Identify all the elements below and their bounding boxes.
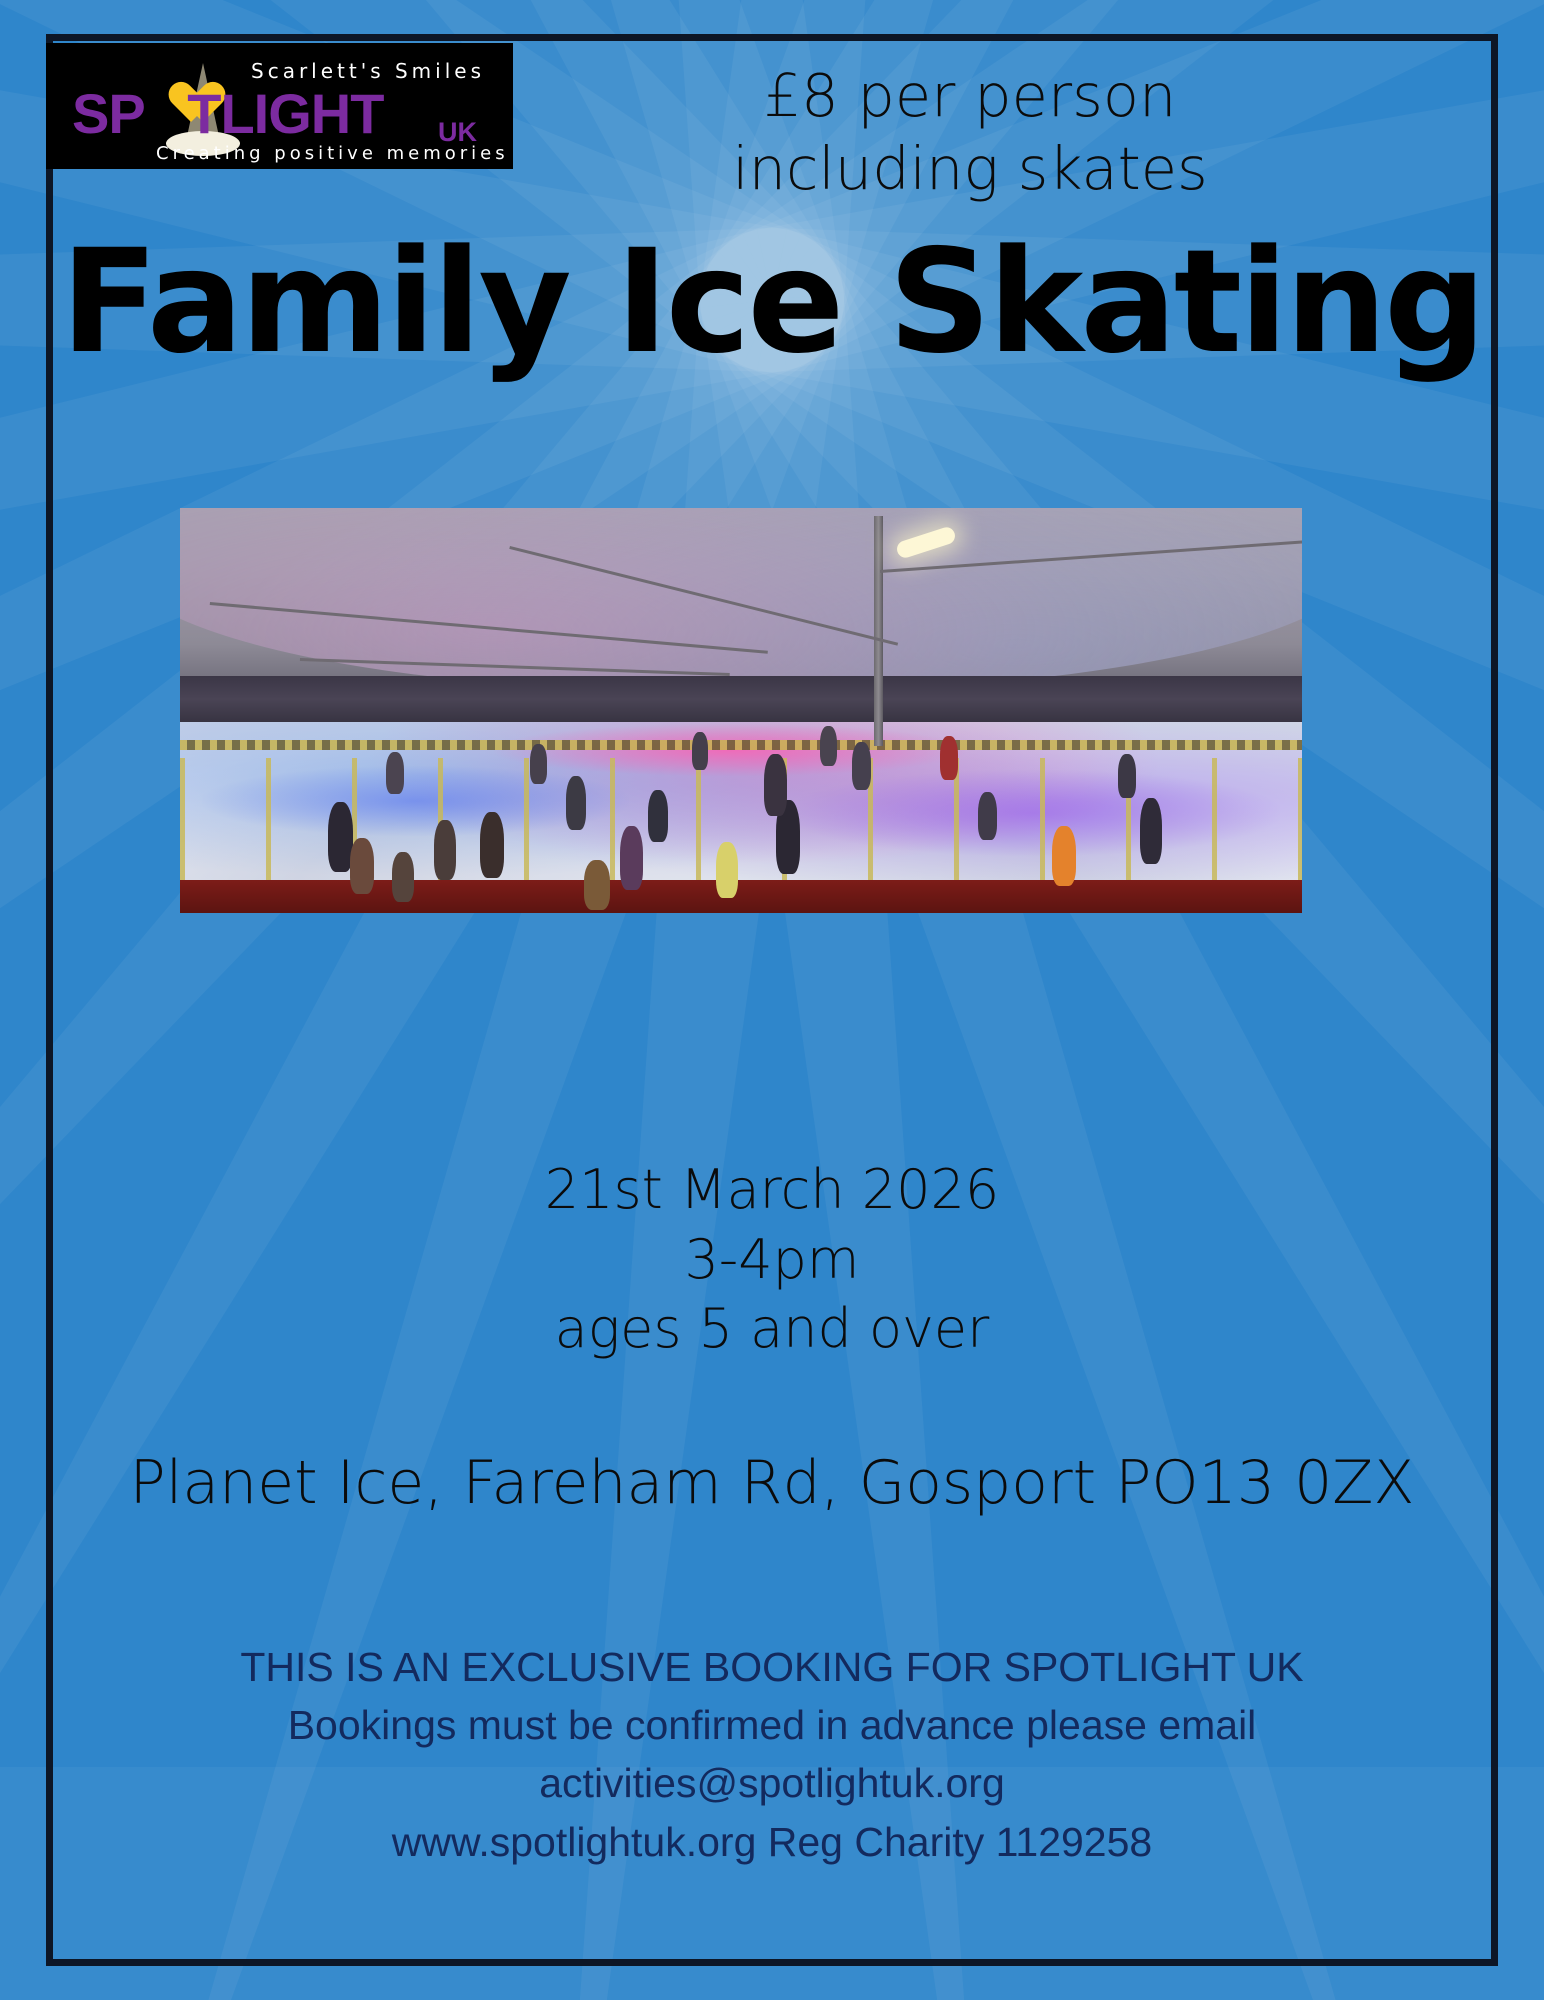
- footer-block: THIS IS AN EXCLUSIVE BOOKING FOR SPOTLIG…: [0, 1638, 1544, 1871]
- event-ages: ages 5 and over: [0, 1294, 1544, 1364]
- price-block: £8 per person including skates: [560, 60, 1380, 205]
- price-line-2: including skates: [560, 133, 1380, 206]
- sunburst-ray: [730, 242, 1544, 1593]
- footer-line-exclusive: THIS IS AN EXCLUSIVE BOOKING FOR SPOTLIG…: [0, 1638, 1544, 1696]
- event-details: 21st March 2026 3-4pm ages 5 and over: [0, 1155, 1544, 1364]
- footer-website-charity[interactable]: www.spotlightuk.org Reg Charity 1129258: [0, 1813, 1544, 1871]
- event-date: 21st March 2026: [0, 1155, 1544, 1225]
- logo-tagline-top: Scarlett's Smiles: [251, 59, 485, 83]
- ice-rink-photo: [180, 508, 1302, 913]
- logo-wordmark: SPOTLIGHT: [72, 81, 383, 146]
- logo-wordmark-right: TLIGHT: [187, 82, 383, 145]
- page-title: Family Ice Skating: [0, 218, 1544, 385]
- event-address: Planet Ice, Fareham Rd, Gosport PO13 0ZX: [0, 1448, 1544, 1518]
- event-time: 3-4pm: [0, 1225, 1544, 1295]
- footer-email[interactable]: activities@spotlightuk.org: [0, 1754, 1544, 1812]
- poster-root: Scarlett's Smiles SPOTLIGHT UK Creating …: [0, 0, 1544, 2000]
- logo-wordmark-left: SP: [72, 82, 145, 145]
- footer-line-bookings: Bookings must be confirmed in advance pl…: [0, 1696, 1544, 1754]
- logo-tagline-bottom: Creating positive memories: [156, 143, 509, 164]
- sunburst-ray: [0, 242, 814, 1593]
- price-line-1: £8 per person: [560, 60, 1380, 133]
- spotlight-logo: Scarlett's Smiles SPOTLIGHT UK Creating …: [46, 43, 513, 169]
